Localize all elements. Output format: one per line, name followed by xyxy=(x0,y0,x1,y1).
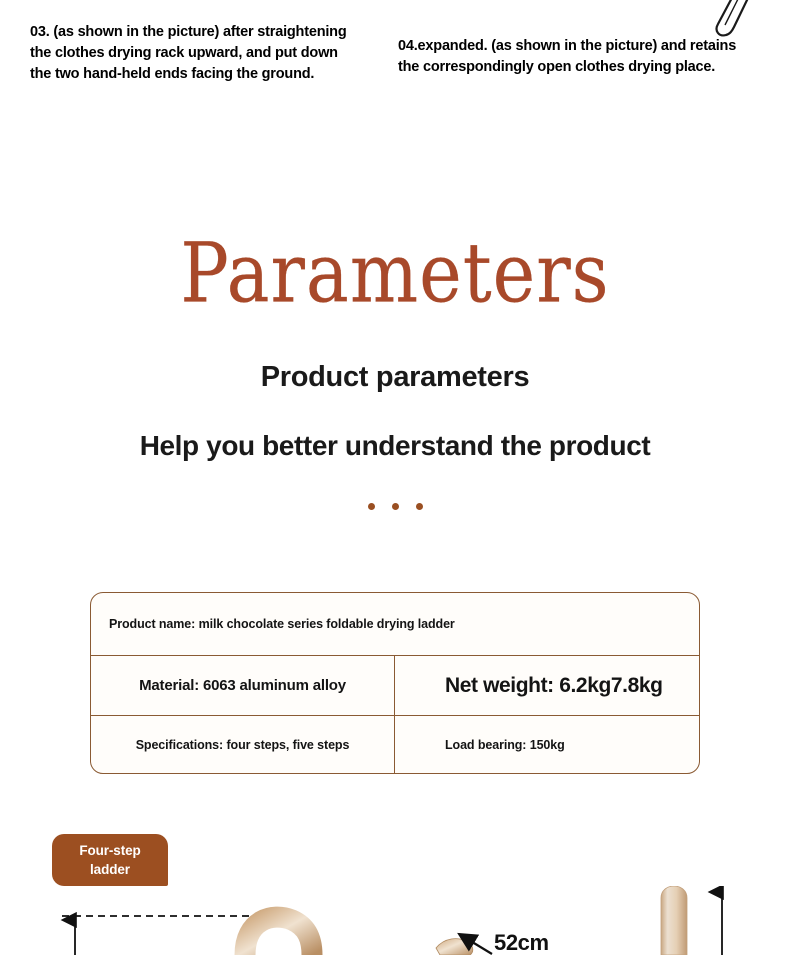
table-row: Product name: milk chocolate series fold… xyxy=(91,593,699,655)
ladder-rail-tube xyxy=(661,886,687,955)
ladder-rod-sketch-icon xyxy=(700,0,756,40)
product-detail-page: 03. (as shown in the picture) after stra… xyxy=(0,0,790,955)
dot-icon xyxy=(416,503,423,510)
section-heading: Product parameters xyxy=(0,358,790,396)
table-cell-load-bearing: Load bearing: 150kg xyxy=(395,716,699,773)
instruction-caption-step-03: 03. (as shown in the picture) after stra… xyxy=(30,22,360,85)
instruction-caption-step-04: 04.expanded. (as shown in the picture) a… xyxy=(398,36,743,78)
badge-line-1: Four-step xyxy=(79,841,140,860)
table-cell-material: Material: 6063 aluminum alloy xyxy=(91,656,395,715)
dot-icon xyxy=(368,503,375,510)
table-cell-specifications: Specifications: four steps, five steps xyxy=(91,716,395,773)
product-dimension-diagram xyxy=(0,886,790,955)
table-row: Material: 6063 aluminum alloy Net weight… xyxy=(91,655,699,715)
dimension-label-52cm: 52cm xyxy=(494,930,549,955)
badge-line-2: ladder xyxy=(90,860,130,879)
table-row: Specifications: four steps, five steps L… xyxy=(91,715,699,773)
section-subheading: Help you better understand the product xyxy=(0,427,790,465)
ladder-hook-shape xyxy=(245,917,312,955)
decorative-dots xyxy=(0,503,790,510)
four-step-ladder-badge: Four-step ladder xyxy=(52,834,168,886)
ladder-step-piece xyxy=(436,939,473,955)
product-parameters-table: Product name: milk chocolate series fold… xyxy=(90,592,700,774)
dot-icon xyxy=(392,503,399,510)
table-cell-net-weight: Net weight: 6.2kg7.8kg xyxy=(395,656,699,715)
table-cell-product-name: Product name: milk chocolate series fold… xyxy=(91,593,699,655)
decorative-section-word: Parameters xyxy=(0,224,790,322)
